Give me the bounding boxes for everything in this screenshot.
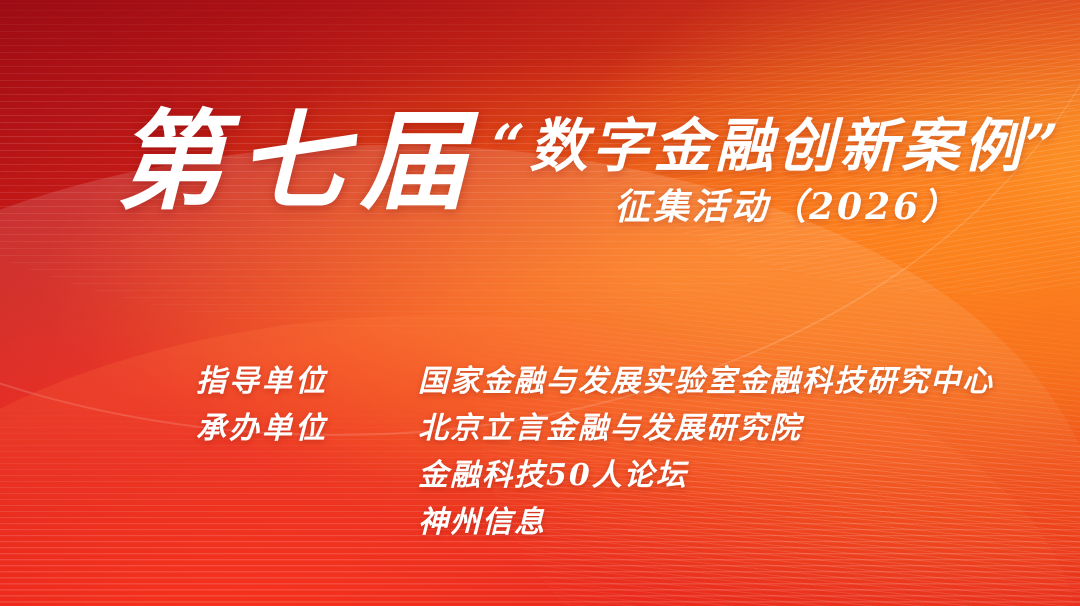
credits-block: 指导单位 国家金融与发展实验室金融科技研究中心 承办单位 北京立言金融与发展研究…: [196, 358, 994, 546]
credit-spacer-a: [196, 452, 418, 499]
credit-label-guidance: 指导单位: [196, 358, 418, 405]
event-name-quoted: “数字金融创新案例”: [492, 116, 1063, 177]
credit-label-organizer: 承办单位: [196, 405, 418, 452]
credit-value-organizer-2: 金融科技50人论坛: [418, 452, 994, 499]
credit-value-organizer-1: 北京立言金融与发展研究院: [418, 405, 994, 452]
poster-content: 第七届 “数字金融创新案例” 征集活动（2026） 指导单位 国家金融与发展实验…: [0, 0, 1080, 606]
event-subtitle: 征集活动（2026）: [614, 188, 960, 228]
credit-value-guidance-1: 国家金融与发展实验室金融科技研究中心: [418, 358, 994, 405]
credit-spacer-b: [196, 499, 418, 546]
credit-value-organizer-3: 神州信息: [418, 499, 994, 546]
poster-canvas: 第七届 “数字金融创新案例” 征集活动（2026） 指导单位 国家金融与发展实验…: [0, 0, 1080, 606]
edition-title: 第七届: [116, 108, 482, 216]
